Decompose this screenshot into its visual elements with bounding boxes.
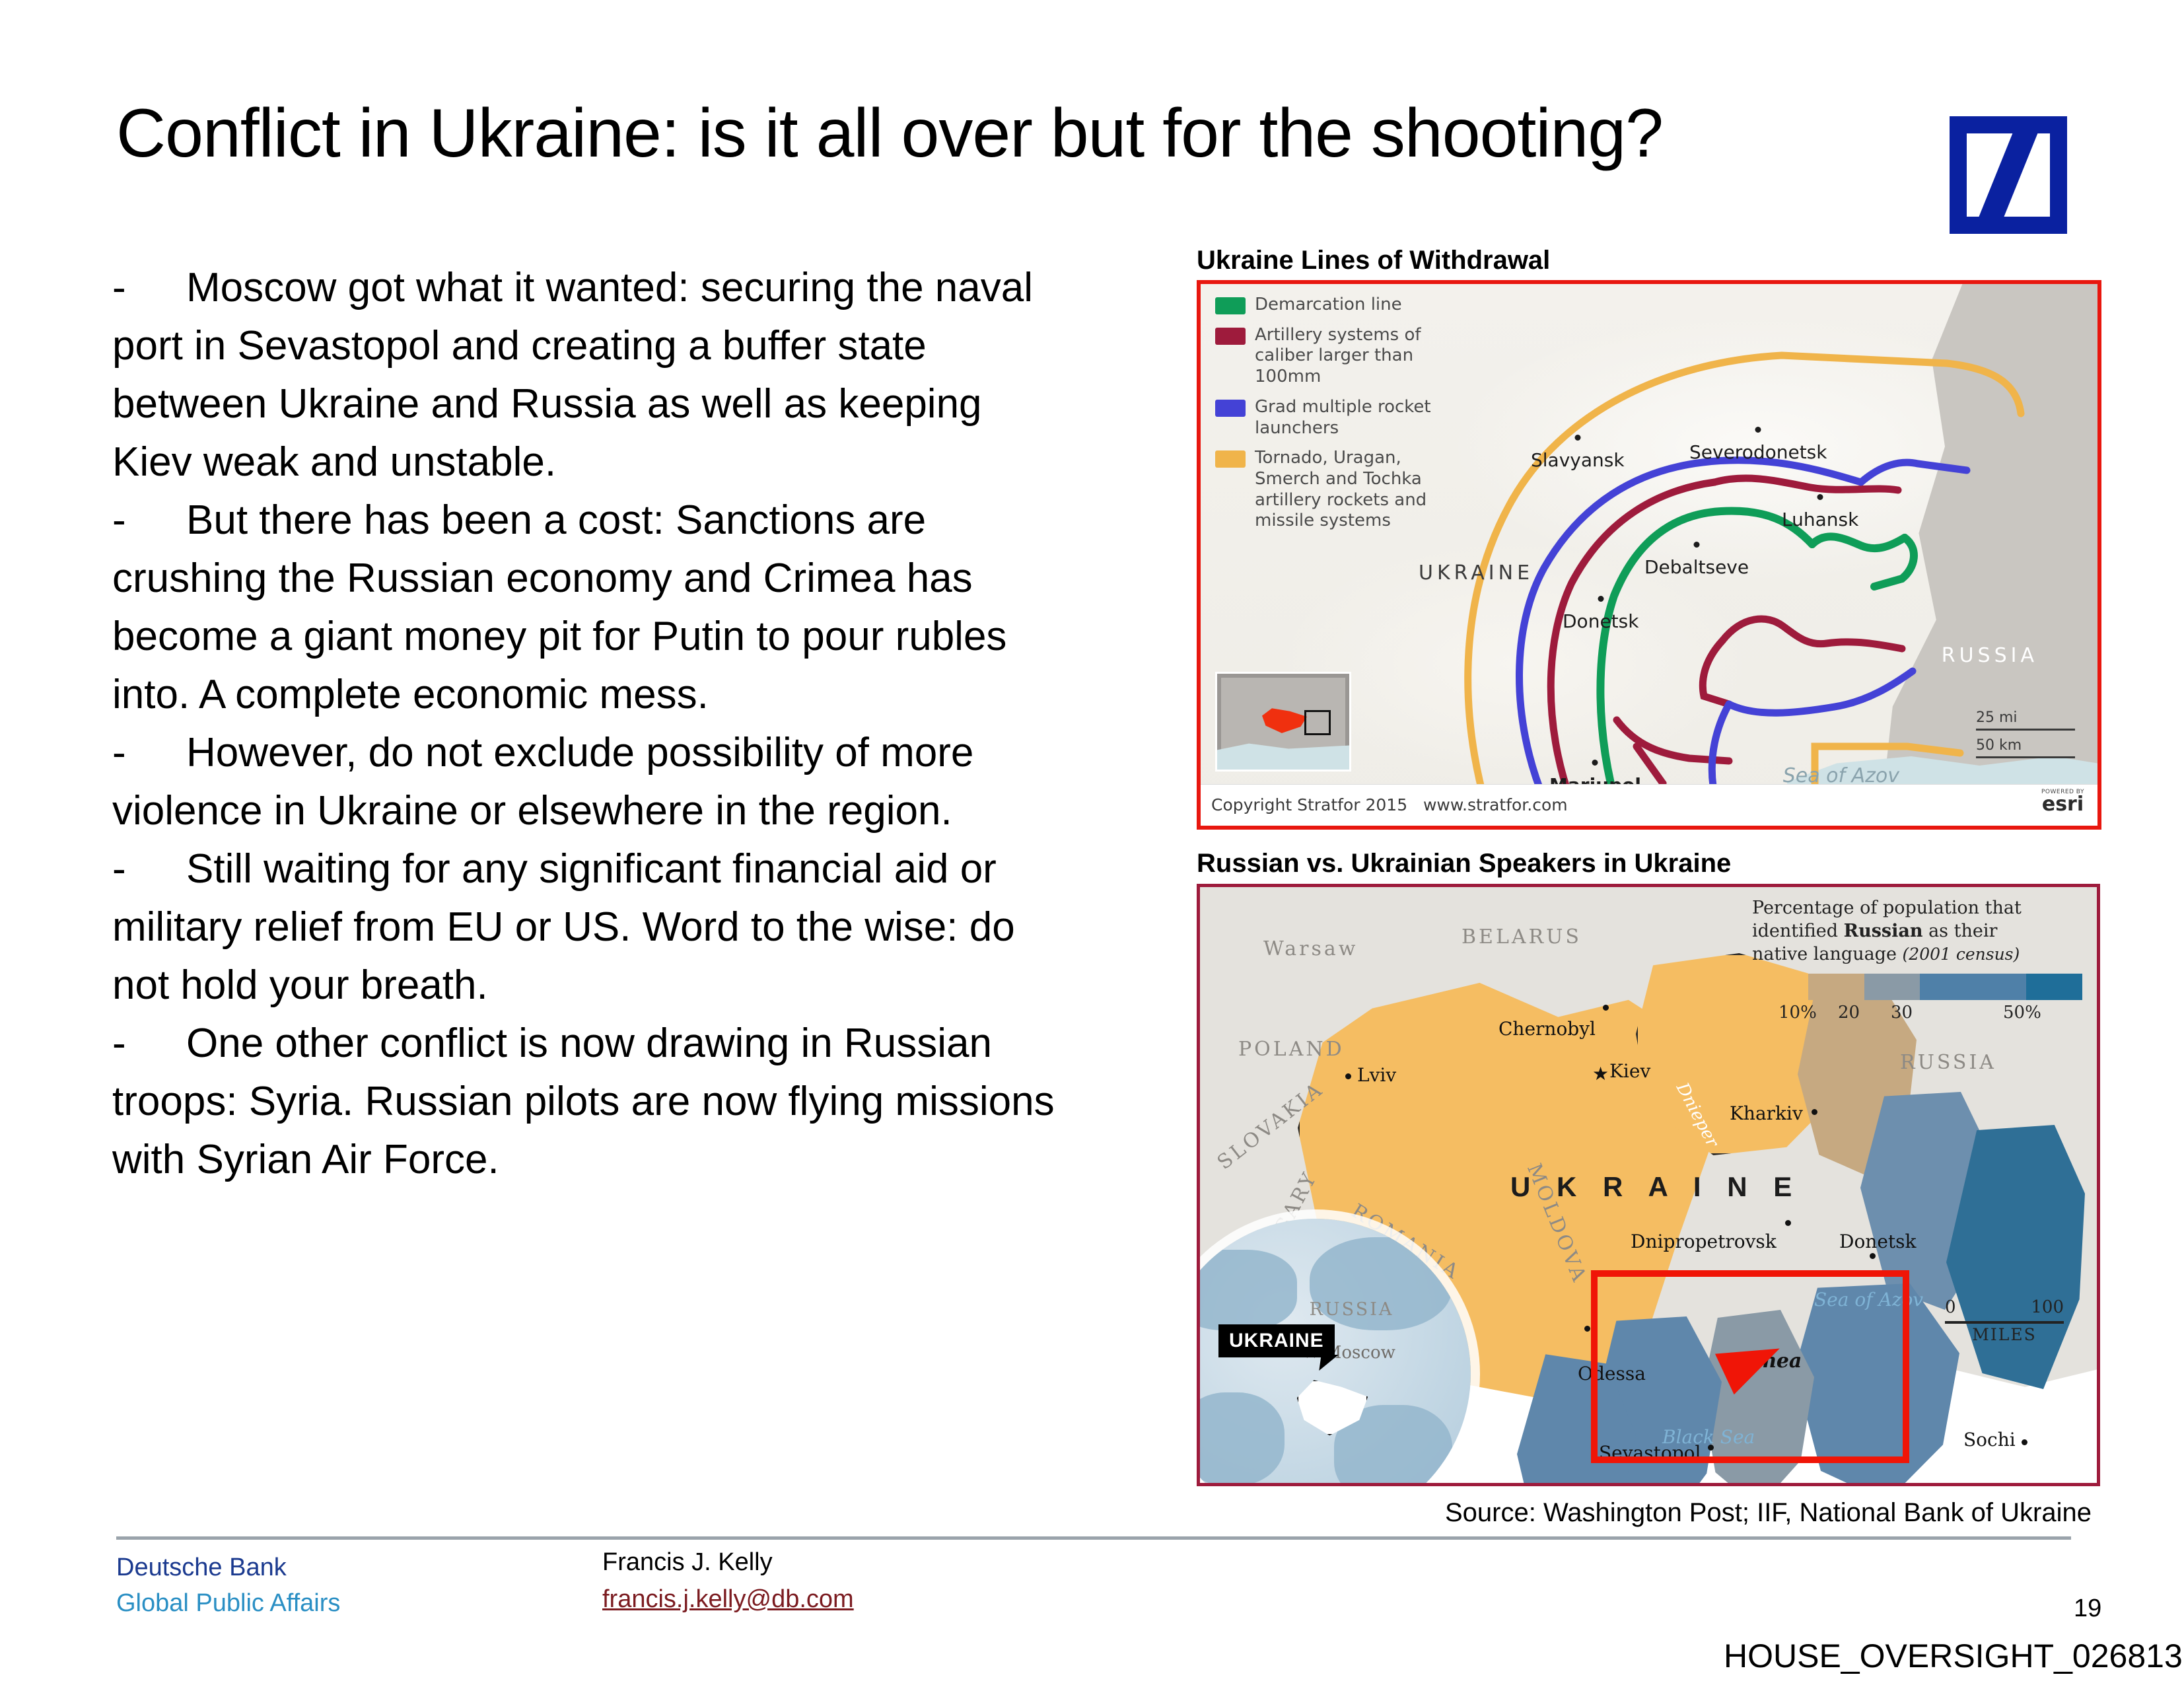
- map2-city-dnipropetrovsk: Dnipropetrovsk: [1631, 1231, 1777, 1252]
- legend-caption-line1: Percentage of population that: [1752, 898, 2022, 918]
- city-dot: [1603, 1005, 1609, 1011]
- map1-city-luhansk: Luhansk: [1782, 509, 1858, 530]
- city-dot: [1592, 760, 1598, 766]
- map2-scale-bar: 0 100 MILES: [1945, 1297, 2064, 1344]
- city-dot: [2022, 1439, 2027, 1445]
- map-ukraine-lines-of-withdrawal: Demarcation line Artillery systems of ca…: [1197, 280, 2101, 830]
- bullet-dash: -: [112, 724, 186, 782]
- bullet-item: -Moscow got what it wanted: securing the…: [112, 259, 1063, 491]
- city-label: Kharkiv: [1730, 1102, 1803, 1124]
- city-dot: [1694, 542, 1700, 548]
- scale-rule: [1945, 1321, 2064, 1324]
- logo-inner-square: [1967, 133, 2050, 217]
- scale-min: 0: [1945, 1297, 1956, 1317]
- city-dot: [1584, 1326, 1590, 1332]
- map-russian-vs-ukrainian-speakers: Warsaw BELARUS POLAND RUSSIA SLOVAKIA HU…: [1197, 884, 2100, 1486]
- scale-max: 100: [2031, 1297, 2064, 1317]
- legend-caption-russian: Russian: [1844, 921, 1923, 941]
- map2-city-chernobyl: Chernobyl: [1498, 1018, 1596, 1040]
- tick-20: 20: [1838, 1003, 1860, 1023]
- bullet-item: -One other conflict is now drawing in Ru…: [112, 1015, 1063, 1189]
- map2-label-russia: RUSSIA: [1900, 1051, 1996, 1074]
- page-title: Conflict in Ukraine: is it all over but …: [116, 98, 1899, 170]
- scale-rule: [1976, 729, 2075, 731]
- city-dot: [1345, 1073, 1351, 1079]
- ramp-swatch-40: [1920, 974, 2026, 1000]
- map1-legend: Demarcation line Artillery systems of ca…: [1215, 295, 1446, 541]
- legend-swatch-maroon: [1215, 328, 1246, 345]
- legend-item: Tornado, Uragan, Smerch and Tochka artil…: [1215, 448, 1446, 532]
- bullet-dash: -: [112, 491, 186, 550]
- map1-credit-bar: Copyright Stratfor 2015 www.stratfor.com…: [1201, 784, 2097, 826]
- bullet-item: -Still waiting for any significant finan…: [112, 840, 1063, 1015]
- slide: Conflict in Ukraine: is it all over but …: [0, 0, 2184, 1689]
- city-dot: [1755, 427, 1761, 433]
- map2-city-kharkiv: Kharkiv: [1730, 1102, 1803, 1124]
- city-dot: [1598, 596, 1603, 602]
- bullet-text: However, do not exclude possibility of m…: [112, 730, 973, 834]
- map2-city-sochi: Sochi: [1963, 1429, 2016, 1451]
- city-label: Debaltseve: [1644, 556, 1749, 578]
- footer-contact-email[interactable]: francis.j.kelly@db.com: [602, 1585, 854, 1614]
- city-label: Kiev: [1609, 1060, 1650, 1082]
- city-label: Donetsk: [1563, 610, 1638, 632]
- city-dot: [1785, 1220, 1791, 1226]
- legend-item: Artillery systems of caliber larger than…: [1215, 325, 1446, 388]
- bullet-dash: -: [112, 840, 186, 898]
- legend-swatch-green: [1215, 297, 1246, 314]
- legend-caption-line2a: identified: [1752, 921, 1844, 941]
- city-label: Dnipropetrovsk: [1631, 1231, 1777, 1252]
- city-label: Donetsk: [1839, 1231, 1917, 1252]
- city-label: Slavyansk: [1531, 449, 1625, 471]
- legend-caption-census: (2001 census): [1903, 945, 2020, 964]
- city-dot: [1870, 1253, 1876, 1259]
- globe-landmass: [1197, 1392, 1285, 1486]
- map2-label-warsaw: Warsaw: [1263, 937, 1358, 960]
- map1-label-russia: RUSSIA: [1942, 644, 2038, 667]
- map2-label-belarus: BELARUS: [1462, 925, 1582, 949]
- legend-swatch-orange: [1215, 450, 1246, 468]
- ramp-swatch-20: [1808, 974, 1864, 1000]
- legend-label: Grad multiple rocket launchers: [1255, 397, 1446, 439]
- map1-locator-inset: [1215, 672, 1351, 772]
- credit-text: Copyright Stratfor 2015: [1211, 795, 1407, 814]
- ramp-swatch-30: [1864, 974, 1920, 1000]
- map2-city-kiev: ★Kiev: [1609, 1060, 1650, 1082]
- footer-divider: [116, 1536, 2071, 1540]
- logo-slash-icon: [1977, 133, 2040, 217]
- globe-label-russia: RUSSIA: [1310, 1299, 1394, 1320]
- legend-label: Tornado, Uragan, Smerch and Tochka artil…: [1255, 448, 1446, 532]
- map1-scale-bar: 25 mi 50 km: [1976, 709, 2075, 765]
- credit-url: www.stratfor.com: [1423, 795, 1568, 814]
- map1-label-ukraine: UKRAINE: [1419, 561, 1533, 585]
- map2-label-poland: POLAND: [1238, 1038, 1345, 1061]
- legend-swatch-blue: [1215, 400, 1246, 417]
- legend-label: Demarcation line: [1255, 295, 1402, 316]
- scale-unit: MILES: [1945, 1325, 2064, 1344]
- map2-label-ukraine: U K R A I N E: [1510, 1171, 1801, 1203]
- map1-city-donetsk: Donetsk: [1563, 610, 1638, 632]
- map2-legend: Percentage of population that identified…: [1752, 896, 2082, 1025]
- city-label: Luhansk: [1782, 509, 1858, 530]
- bullet-text: Still waiting for any significant financ…: [112, 846, 1015, 1008]
- map1-credit: Copyright Stratfor 2015 www.stratfor.com: [1211, 795, 1568, 814]
- footer-org-name: Deutsche Bank: [116, 1554, 287, 1582]
- tick-10: 10%: [1779, 1003, 1817, 1023]
- footer-org-unit: Global Public Affairs: [116, 1589, 340, 1618]
- bullet-text: But there has been a cost: Sanctions are…: [112, 497, 1006, 717]
- bullet-dash: -: [112, 1015, 186, 1073]
- bates-stamp: HOUSE_OVERSIGHT_026813: [1724, 1637, 2183, 1675]
- body-text: -Moscow got what it wanted: securing the…: [112, 259, 1063, 1190]
- inset-extent-box: [1304, 710, 1331, 735]
- ramp-swatch-10: [1752, 974, 1808, 1000]
- map1-title: Ukraine Lines of Withdrawal: [1197, 246, 1550, 275]
- city-dot: [1574, 435, 1580, 441]
- bullet-dash: -: [112, 259, 186, 317]
- map2-city-lviv: Lviv: [1357, 1064, 1396, 1086]
- bullet-item: -But there has been a cost: Sanctions ar…: [112, 491, 1063, 724]
- legend-label: Artillery systems of caliber larger than…: [1255, 325, 1446, 388]
- scale-rule: [1976, 756, 2075, 758]
- tick-30: 30: [1891, 1003, 1913, 1023]
- scale-numbers: 0 100: [1945, 1297, 2064, 1317]
- map1-city-slavyansk: Slavyansk: [1531, 449, 1625, 471]
- legend-item: Demarcation line: [1215, 295, 1446, 316]
- map1-city-debaltseve: Debaltseve: [1644, 556, 1749, 578]
- city-label: Lviv: [1357, 1064, 1396, 1086]
- legend-item: Grad multiple rocket launchers: [1215, 397, 1446, 439]
- legend-caption-line2c: as their: [1923, 921, 1998, 941]
- bullet-item: -However, do not exclude possibility of …: [112, 724, 1063, 840]
- esri-logo: POWERED BY esri: [2041, 789, 2084, 814]
- deutsche-bank-logo: [1950, 116, 2067, 234]
- legend-ticks: 10% 20 30 50%: [1752, 1003, 2082, 1025]
- legend-color-ramp: [1752, 974, 2082, 1000]
- legend-caption: Percentage of population that identified…: [1752, 896, 2082, 966]
- scale-km: 50 km: [1976, 737, 2075, 754]
- page-number: 19: [2074, 1595, 2101, 1623]
- map2-city-donetsk: Donetsk: [1839, 1231, 1917, 1252]
- city-label: Sochi: [1963, 1429, 2016, 1451]
- scale-miles: 25 mi: [1976, 709, 2075, 726]
- footer-contact-name: Francis J. Kelly: [602, 1548, 773, 1577]
- map2-title: Russian vs. Ukrainian Speakers in Ukrain…: [1197, 849, 1731, 879]
- city-label: Severodonetsk: [1689, 441, 1827, 463]
- legend-caption-line3a: native language: [1752, 944, 1903, 964]
- esri-wordmark: esri: [2041, 795, 2084, 814]
- bullet-text: Moscow got what it wanted: securing the …: [112, 265, 1033, 485]
- city-dot: [1817, 494, 1823, 500]
- bullet-text: One other conflict is now drawing in Rus…: [112, 1021, 1055, 1182]
- city-label: Chernobyl: [1498, 1018, 1596, 1040]
- globe-landmass: [1197, 1250, 1297, 1330]
- ramp-swatch-50: [2026, 974, 2082, 1000]
- source-line: Source: Washington Post; IIF, National B…: [1445, 1498, 2092, 1528]
- tick-50: 50%: [2003, 1003, 2041, 1023]
- city-dot: [1812, 1109, 1817, 1115]
- map2-inset-tag-ukraine: UKRAINE: [1218, 1324, 1335, 1357]
- map1-city-severodonetsk: Severodonetsk: [1689, 441, 1827, 463]
